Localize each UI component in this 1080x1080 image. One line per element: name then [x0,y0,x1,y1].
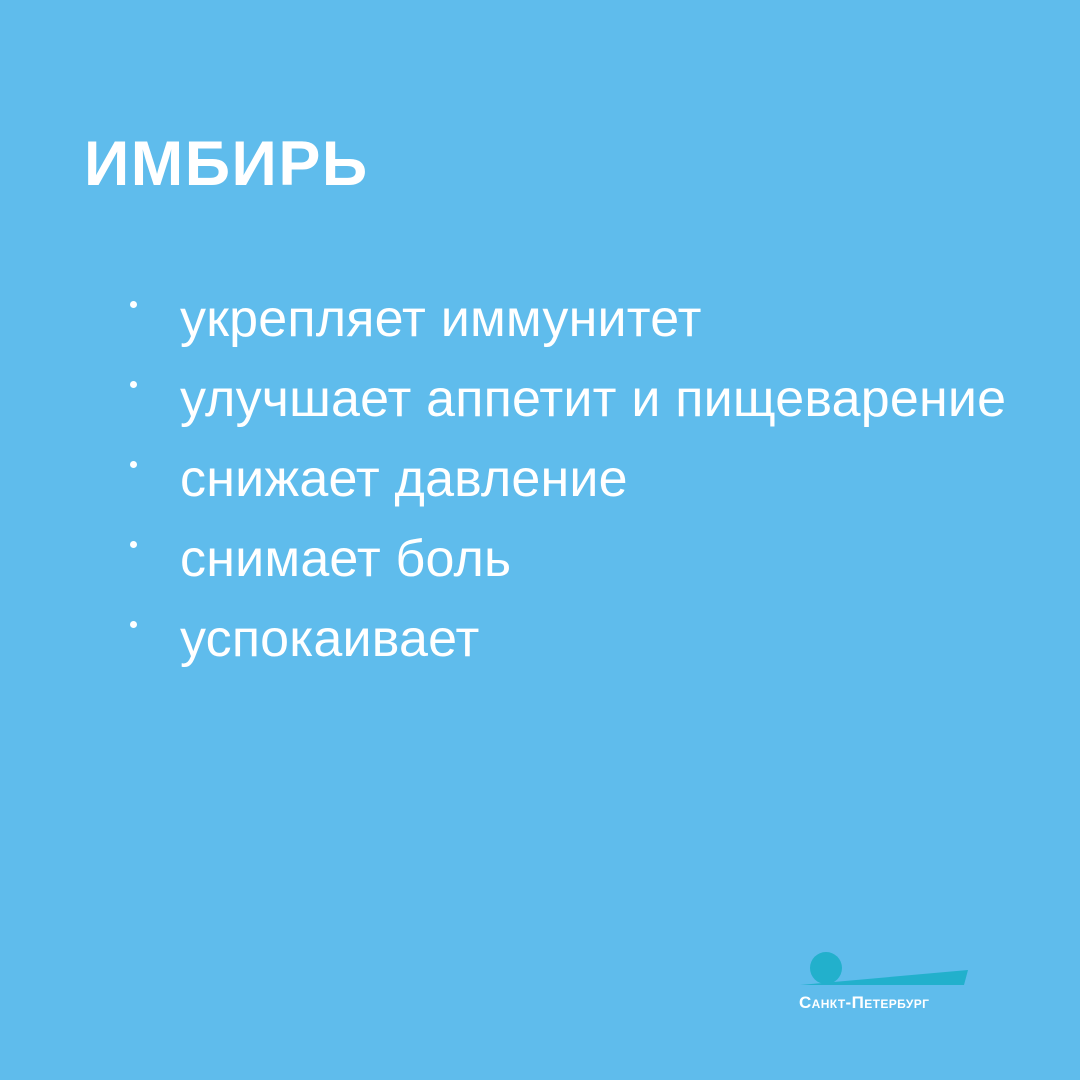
list-item-label: успокаивает [180,602,1008,676]
list-item: улучшает аппетит и пищеварение [128,362,1008,436]
dot-bullet-icon [130,301,137,308]
list-item-label: снижает давление [180,442,1008,516]
logo-wordmark-label: Санкт-Петербург [796,993,976,1013]
dot-bullet-icon [130,621,137,628]
list-item: укрепляет иммунитет [128,282,1008,356]
list-item: снимает боль [128,522,1008,596]
logo-mark-icon [796,948,976,990]
list-item-label: укрепляет иммунитет [180,282,1008,356]
list-item-label: снимает боль [180,522,1008,596]
dot-bullet-icon [130,381,137,388]
poster-canvas: ИМБИРЬ укрепляет иммунитет улучшает аппе… [0,0,1080,1080]
dot-bullet-icon [130,461,137,468]
saint-petersburg-logo: Санкт-Петербург [796,948,976,1026]
list-item-label: улучшает аппетит и пищеварение [180,362,1008,436]
logo-circle-shape [810,952,842,984]
benefits-list: укрепляет иммунитет улучшает аппетит и п… [128,282,1008,676]
page-title: ИМБИРЬ [84,128,369,200]
dot-bullet-icon [130,541,137,548]
list-item: успокаивает [128,602,1008,676]
list-item: снижает давление [128,442,1008,516]
